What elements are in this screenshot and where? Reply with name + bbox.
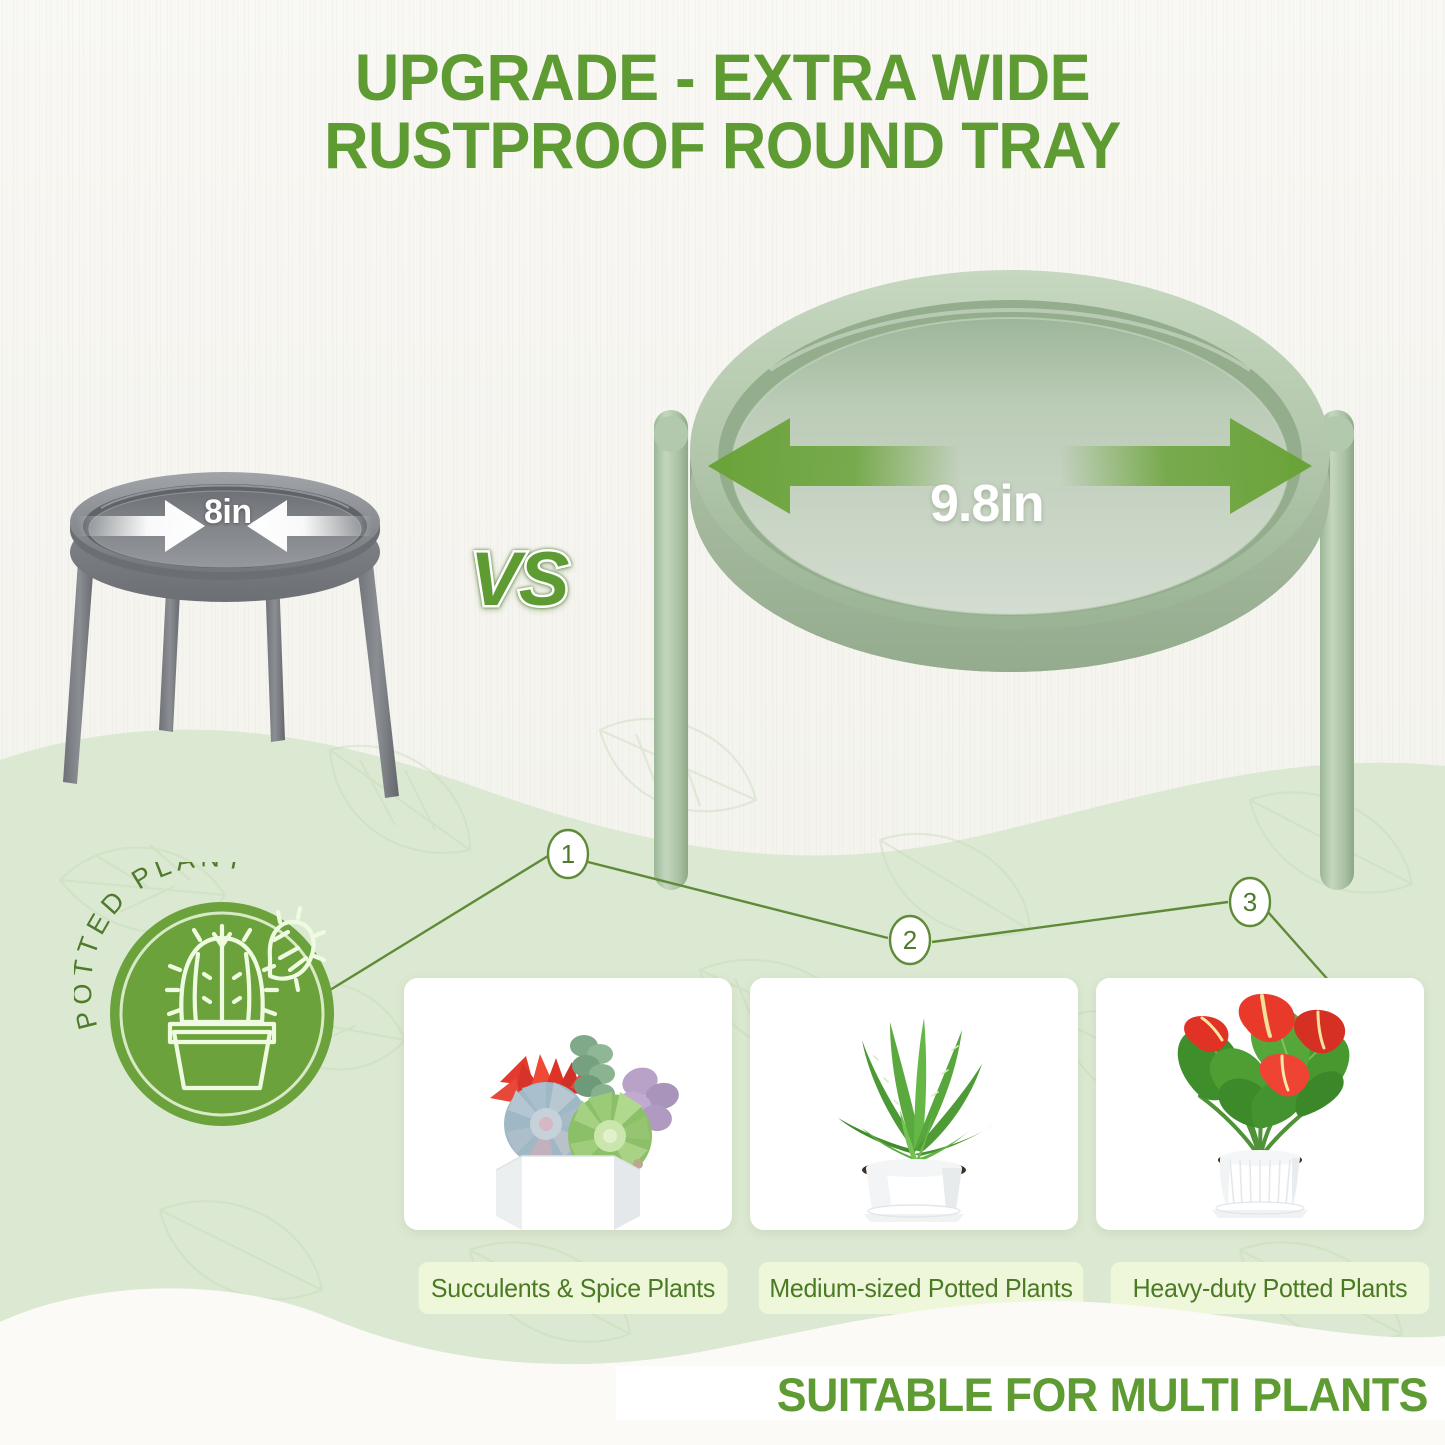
white-ribbed-pot (1212, 1150, 1308, 1218)
step-node-3: 3 (1230, 878, 1270, 926)
step-node-2: 2 (890, 916, 930, 964)
svg-text:3: 3 (1243, 887, 1257, 917)
infographic-canvas: UPGRADE - EXTRA WIDE RUSTPROOF ROUND TRA… (0, 0, 1445, 1445)
page-title: UPGRADE - EXTRA WIDE RUSTPROOF ROUND TRA… (51, 44, 1395, 180)
step-node-1: 1 (548, 830, 588, 878)
list-item[interactable] (404, 978, 732, 1230)
new-dimension-label: 9.8in (930, 474, 1044, 534)
anthurium-plant-image (1096, 978, 1424, 1230)
white-round-pot (864, 1159, 964, 1223)
vs-badge: VS (470, 536, 567, 623)
svg-text:1: 1 (561, 839, 575, 869)
potted-plant-badge: POTTED PLANT (74, 862, 364, 1152)
aloe-plant-image (750, 978, 1078, 1230)
list-item[interactable] (1096, 978, 1424, 1230)
succulent-plant-image (404, 978, 732, 1230)
list-item[interactable] (750, 978, 1078, 1230)
svg-text:2: 2 (903, 925, 917, 955)
footer-title: SUITABLE FOR MULTI PLANTS (657, 1364, 1428, 1424)
white-hexagon-pot (496, 1156, 640, 1230)
old-dimension-label: 8in (204, 493, 252, 532)
plant-cards-row (404, 978, 1444, 1238)
